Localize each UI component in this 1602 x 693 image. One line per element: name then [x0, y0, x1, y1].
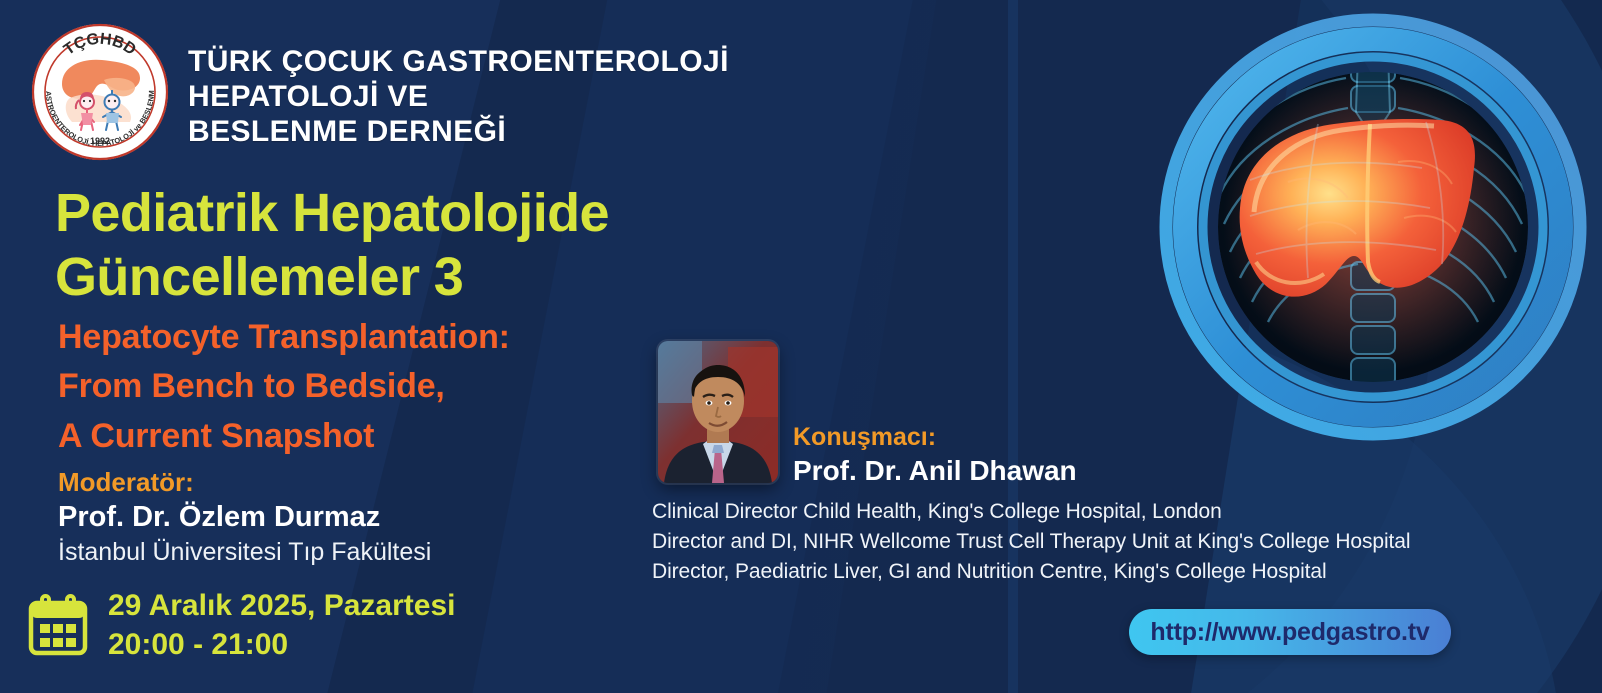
association-logo: TÇGHBD GASTROENTEROLOJİ, HEPATOLOJİ ve B… — [30, 22, 170, 162]
title-line-2: Güncellemeler 3 — [55, 246, 609, 310]
website-url-text: http://www.pedgastro.tv — [1150, 618, 1429, 647]
association-emblem-icon: TÇGHBD GASTROENTEROLOJİ, HEPATOLOJİ ve B… — [30, 22, 170, 162]
speaker-name: Prof. Dr. Anil Dhawan — [793, 453, 1077, 489]
speaker-credential-line: Director and DI, NIHR Wellcome Trust Cel… — [652, 527, 1410, 557]
liver-anatomy-illustration — [1158, 12, 1588, 442]
moderator-info: Moderatör: Prof. Dr. Özlem Durmaz İstanb… — [58, 466, 431, 569]
svg-text:1992: 1992 — [90, 136, 110, 146]
org-name-line-3: BESLENME DERNEĞİ — [188, 114, 729, 149]
moderator-name: Prof. Dr. Özlem Durmaz — [58, 499, 431, 537]
event-datetime: 29 Aralık 2025, Pazartesi 20:00 - 21:00 — [28, 586, 455, 664]
website-url-button[interactable]: http://www.pedgastro.tv — [1129, 609, 1451, 655]
moderator-label: Moderatör: — [58, 466, 431, 499]
title-line-1: Pediatrik Hepatolojide — [55, 182, 609, 246]
event-time: 20:00 - 21:00 — [108, 625, 455, 664]
org-name-line-2: HEPATOLOJİ VE — [188, 79, 729, 114]
datetime-text: 29 Aralık 2025, Pazartesi 20:00 - 21:00 — [108, 586, 455, 664]
moderator-affiliation: İstanbul Üniversitesi Tıp Fakültesi — [58, 536, 431, 569]
liver-illustration-image — [1158, 12, 1588, 442]
speaker-credentials: Clinical Director Child Health, King's C… — [652, 497, 1410, 586]
speaker-credential-line: Clinical Director Child Health, King's C… — [652, 497, 1410, 527]
speaker-portrait — [658, 341, 778, 483]
event-title: Pediatrik Hepatolojide Güncellemeler 3 — [55, 182, 609, 309]
subtitle-line-2: From Bench to Bedside, — [58, 362, 510, 411]
background-divider-band — [1008, 0, 1018, 693]
event-date: 29 Aralık 2025, Pazartesi — [108, 586, 455, 625]
speaker-photo-image — [658, 341, 778, 483]
speaker-credential-line: Director, Paediatric Liver, GI and Nutri… — [652, 557, 1410, 587]
subtitle-line-1: Hepatocyte Transplantation: — [58, 313, 510, 362]
org-name-line-1: TÜRK ÇOCUK GASTROENTEROLOJİ — [188, 44, 729, 79]
event-banner: TÇGHBD GASTROENTEROLOJİ, HEPATOLOJİ ve B… — [0, 0, 1602, 693]
event-subtitle: Hepatocyte Transplantation: From Bench t… — [58, 313, 510, 461]
speaker-label: Konuşmacı: — [793, 422, 1077, 453]
banner-header: TÇGHBD GASTROENTEROLOJİ, HEPATOLOJİ ve B… — [30, 22, 729, 162]
calendar-icon — [28, 594, 88, 656]
speaker-info: Konuşmacı: Prof. Dr. Anil Dhawan — [793, 422, 1077, 489]
subtitle-line-3: A Current Snapshot — [58, 412, 510, 461]
organization-name: TÜRK ÇOCUK GASTROENTEROLOJİ HEPATOLOJİ V… — [188, 22, 729, 149]
